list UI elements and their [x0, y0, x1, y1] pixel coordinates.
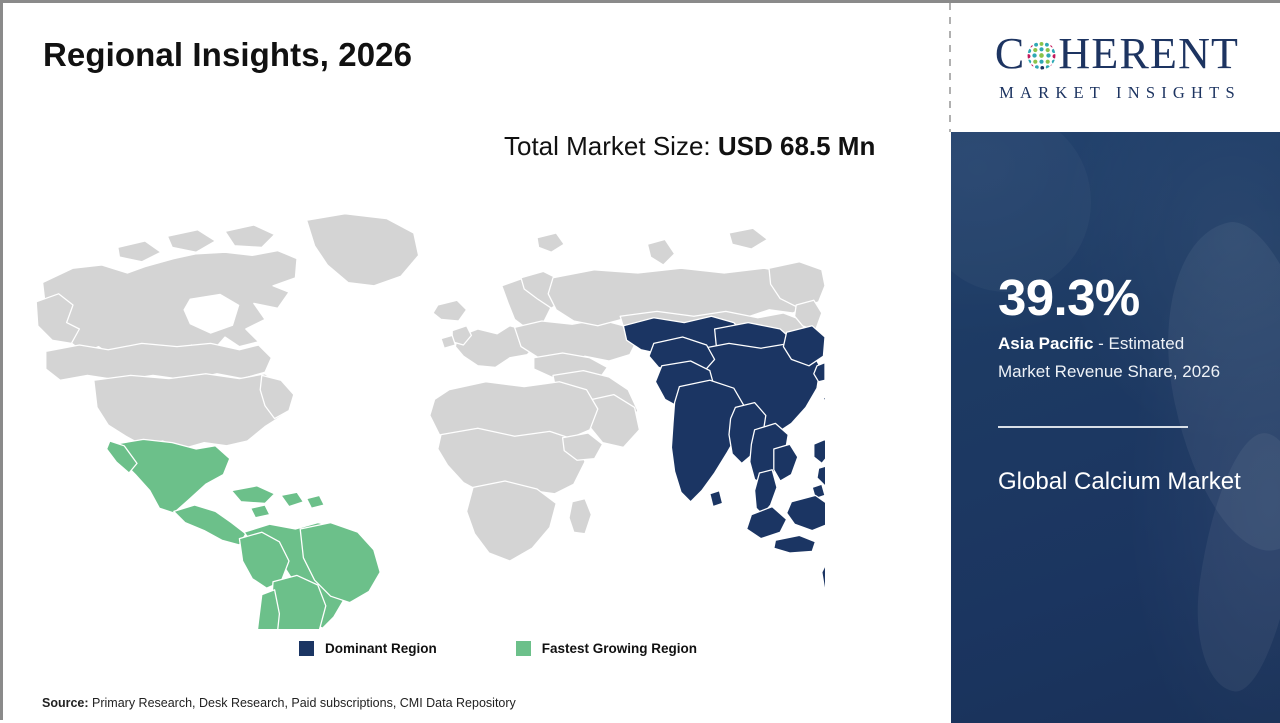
logo-subtitle: MARKET INSIGHTS — [993, 83, 1241, 103]
revenue-share-percentage: 39.3% — [998, 272, 1140, 323]
left-content-panel: Regional Insights, 2026 Total Market Siz… — [3, 3, 950, 723]
total-market-size-value: USD 68.5 Mn — [718, 131, 876, 161]
page-title: Regional Insights, 2026 — [43, 36, 412, 74]
logo-letter-c: C — [995, 32, 1026, 76]
fastest-growing-region-swatch — [516, 641, 531, 656]
map-region-latin-america — [107, 439, 381, 629]
market-name: Global Calcium Market — [998, 465, 1248, 499]
legend-item-fastest: Fastest Growing Region — [516, 641, 697, 656]
world-map — [25, 209, 825, 629]
region-name: Asia Pacific — [998, 334, 1093, 353]
dominant-region-swatch — [299, 641, 314, 656]
logo-word-herent: HERENT — [1058, 32, 1239, 76]
decorative-shape-3 — [951, 132, 1091, 292]
total-market-size-label: Total Market Size: — [504, 131, 718, 161]
panel-divider-rule — [998, 426, 1188, 428]
source-line: Source: Primary Research, Desk Research,… — [42, 696, 516, 710]
legend-label-fastest: Fastest Growing Region — [542, 641, 697, 656]
map-region-asia-pacific — [623, 316, 825, 629]
regional-highlight-panel: 39.3% Asia Pacific - Estimated Market Re… — [951, 132, 1280, 723]
revenue-share-description: Asia Pacific - Estimated Market Revenue … — [998, 330, 1236, 385]
logo-wordmark: C — [995, 32, 1239, 76]
infographic-page: Regional Insights, 2026 Total Market Siz… — [0, 0, 1280, 720]
globe-icon — [1026, 40, 1057, 71]
source-label: Source: — [42, 696, 89, 710]
map-legend: Dominant Region Fastest Growing Region — [299, 641, 697, 656]
legend-item-dominant: Dominant Region — [299, 641, 437, 656]
source-text: Primary Research, Desk Research, Paid su… — [89, 696, 516, 710]
world-map-svg — [25, 209, 825, 629]
legend-label-dominant: Dominant Region — [325, 641, 437, 656]
total-market-size: Total Market Size: USD 68.5 Mn — [504, 127, 896, 167]
coherent-market-insights-logo: C — [951, 3, 1280, 132]
